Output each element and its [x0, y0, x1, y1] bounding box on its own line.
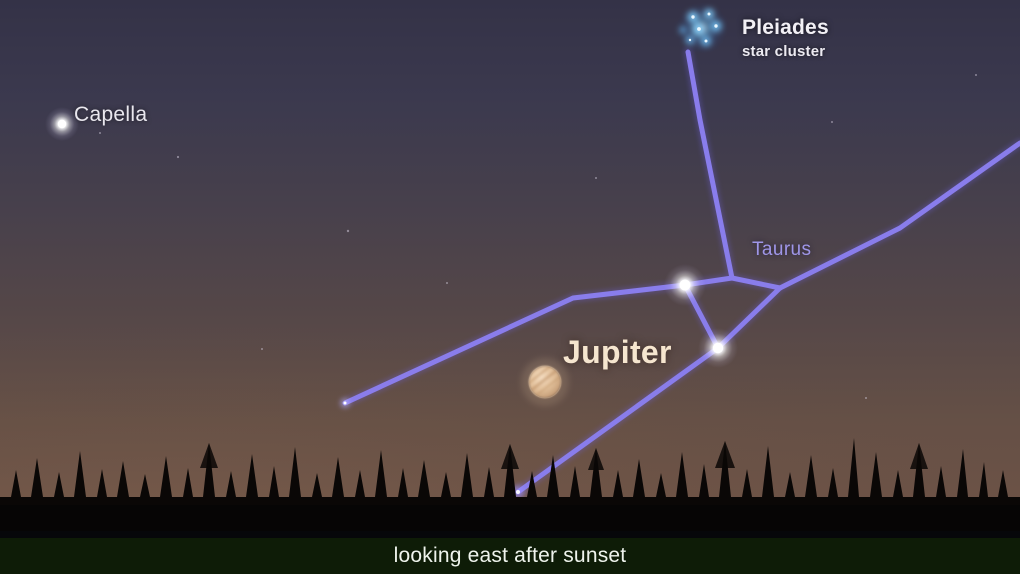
star-aldebaran[interactable] [664, 264, 706, 306]
sky-canvas [0, 0, 1020, 574]
pleiades-cluster[interactable] [676, 2, 728, 54]
planet-jupiter[interactable] [521, 358, 569, 406]
star-chart-screenshot: Capella Pleiades star cluster Taurus Jup… [0, 0, 1020, 574]
star-elnath[interactable] [698, 328, 738, 368]
caption-text: looking east after sunset [394, 544, 627, 568]
star-capella[interactable] [45, 107, 79, 141]
caption-bar: looking east after sunset [0, 538, 1020, 574]
